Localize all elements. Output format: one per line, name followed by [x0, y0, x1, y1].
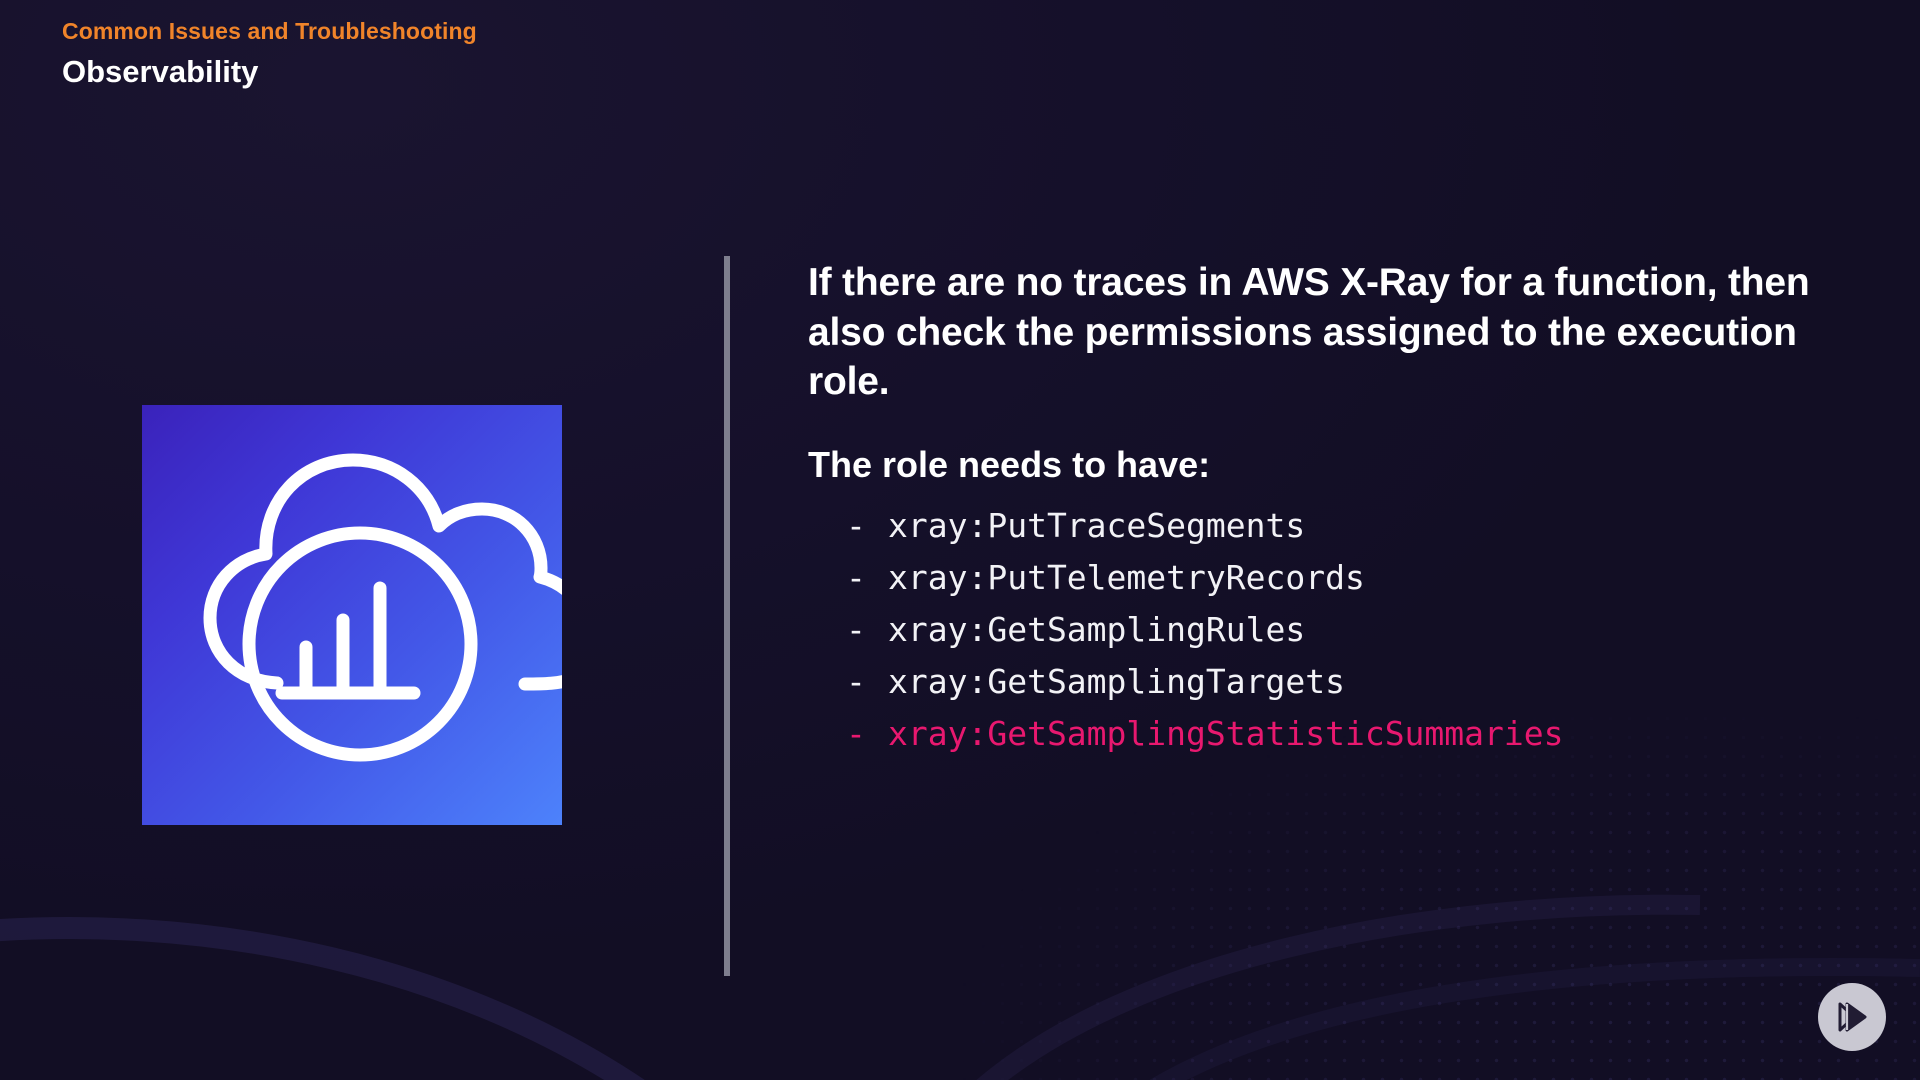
- permission-label: xray:GetSamplingStatisticSummaries: [888, 714, 1564, 753]
- permission-item: -xray:PutTelemetryRecords: [846, 552, 1828, 604]
- permission-bullet-marker: -: [846, 656, 888, 708]
- cloud-analytics-tile: [142, 405, 562, 825]
- double-play-logo-icon: [1832, 997, 1872, 1037]
- permission-label: xray:PutTelemetryRecords: [888, 558, 1365, 597]
- sub-heading: The role needs to have:: [808, 443, 1828, 486]
- permission-label: xray:GetSamplingTargets: [888, 662, 1345, 701]
- slide-header: Common Issues and Troubleshooting Observ…: [62, 18, 477, 90]
- permission-bullet-marker: -: [846, 500, 888, 552]
- permission-bullet-marker: -: [846, 552, 888, 604]
- slide-root: Common Issues and Troubleshooting Observ…: [0, 0, 1920, 1080]
- section-eyebrow: Common Issues and Troubleshooting: [62, 18, 477, 46]
- permission-item: -xray:PutTraceSegments: [846, 500, 1828, 552]
- permission-item: -xray:GetSamplingTargets: [846, 656, 1828, 708]
- permission-label: xray:GetSamplingRules: [888, 610, 1305, 649]
- cloud-analytics-icon: [142, 405, 562, 825]
- permission-bullet-marker: -: [846, 708, 888, 760]
- brand-badge[interactable]: [1818, 983, 1886, 1051]
- permissions-list: -xray:PutTraceSegments-xray:PutTelemetry…: [808, 500, 1828, 761]
- vertical-divider: [724, 256, 730, 976]
- lead-paragraph: If there are no traces in AWS X-Ray for …: [808, 258, 1828, 407]
- permission-item: -xray:GetSamplingStatisticSummaries: [846, 708, 1828, 760]
- permission-label: xray:PutTraceSegments: [888, 506, 1305, 545]
- content-column: If there are no traces in AWS X-Ray for …: [808, 258, 1828, 760]
- permission-bullet-marker: -: [846, 604, 888, 656]
- page-title: Observability: [62, 53, 477, 90]
- permission-item: -xray:GetSamplingRules: [846, 604, 1828, 656]
